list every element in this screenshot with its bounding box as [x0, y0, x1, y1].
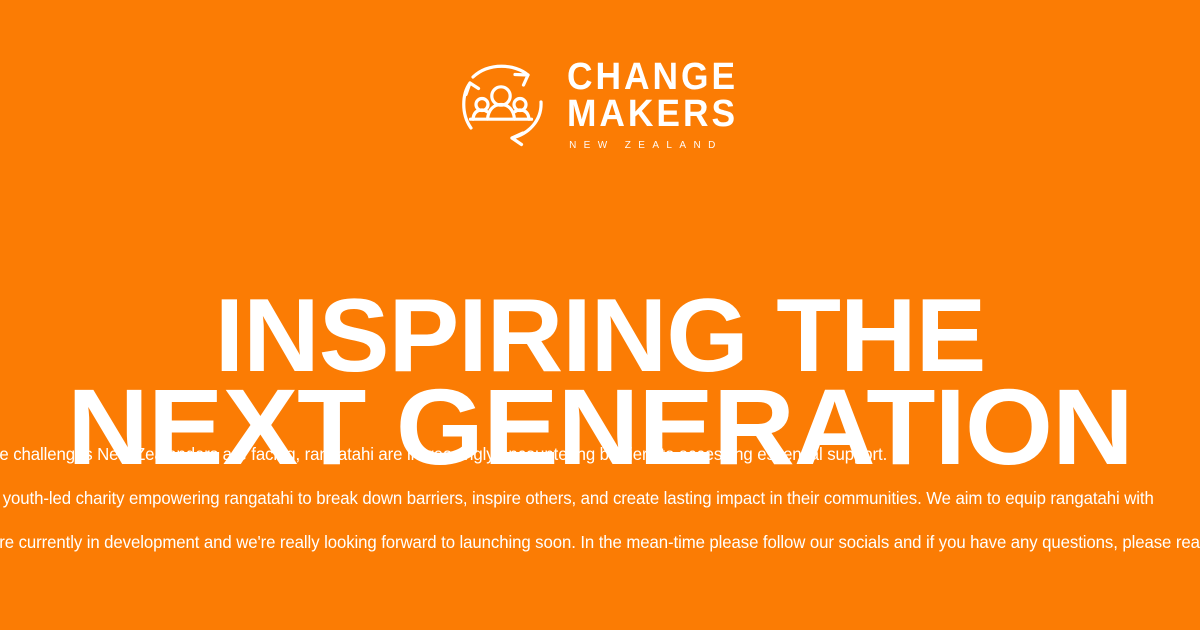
intro-paragraph-line-2: Change Makers New Zealand is a youth-led…: [0, 476, 1142, 520]
change-cycle-people-icon: [449, 52, 553, 156]
intro-paragraph-line-3: the tools they need to thrive. We are cu…: [0, 520, 1142, 564]
logo-wordmark-line-2: MAKERS: [567, 96, 738, 132]
logo-inner: CHANGE MAKERS NEW ZEALAND: [449, 52, 751, 156]
intro-paragraph: With the rising cost of living and the c…: [0, 432, 1200, 564]
intro-paragraph-line-1: With the rising cost of living and the c…: [0, 432, 1142, 476]
logo-wordmark-subtitle: NEW ZEALAND: [569, 141, 723, 151]
landing-page: CHANGE MAKERS NEW ZEALAND INSPIRING THE …: [0, 0, 1200, 630]
logo-wordmark: CHANGE MAKERS NEW ZEALAND: [567, 57, 751, 151]
brand-logo[interactable]: CHANGE MAKERS NEW ZEALAND: [0, 52, 1200, 156]
logo-wordmark-line-1: CHANGE: [567, 59, 738, 95]
